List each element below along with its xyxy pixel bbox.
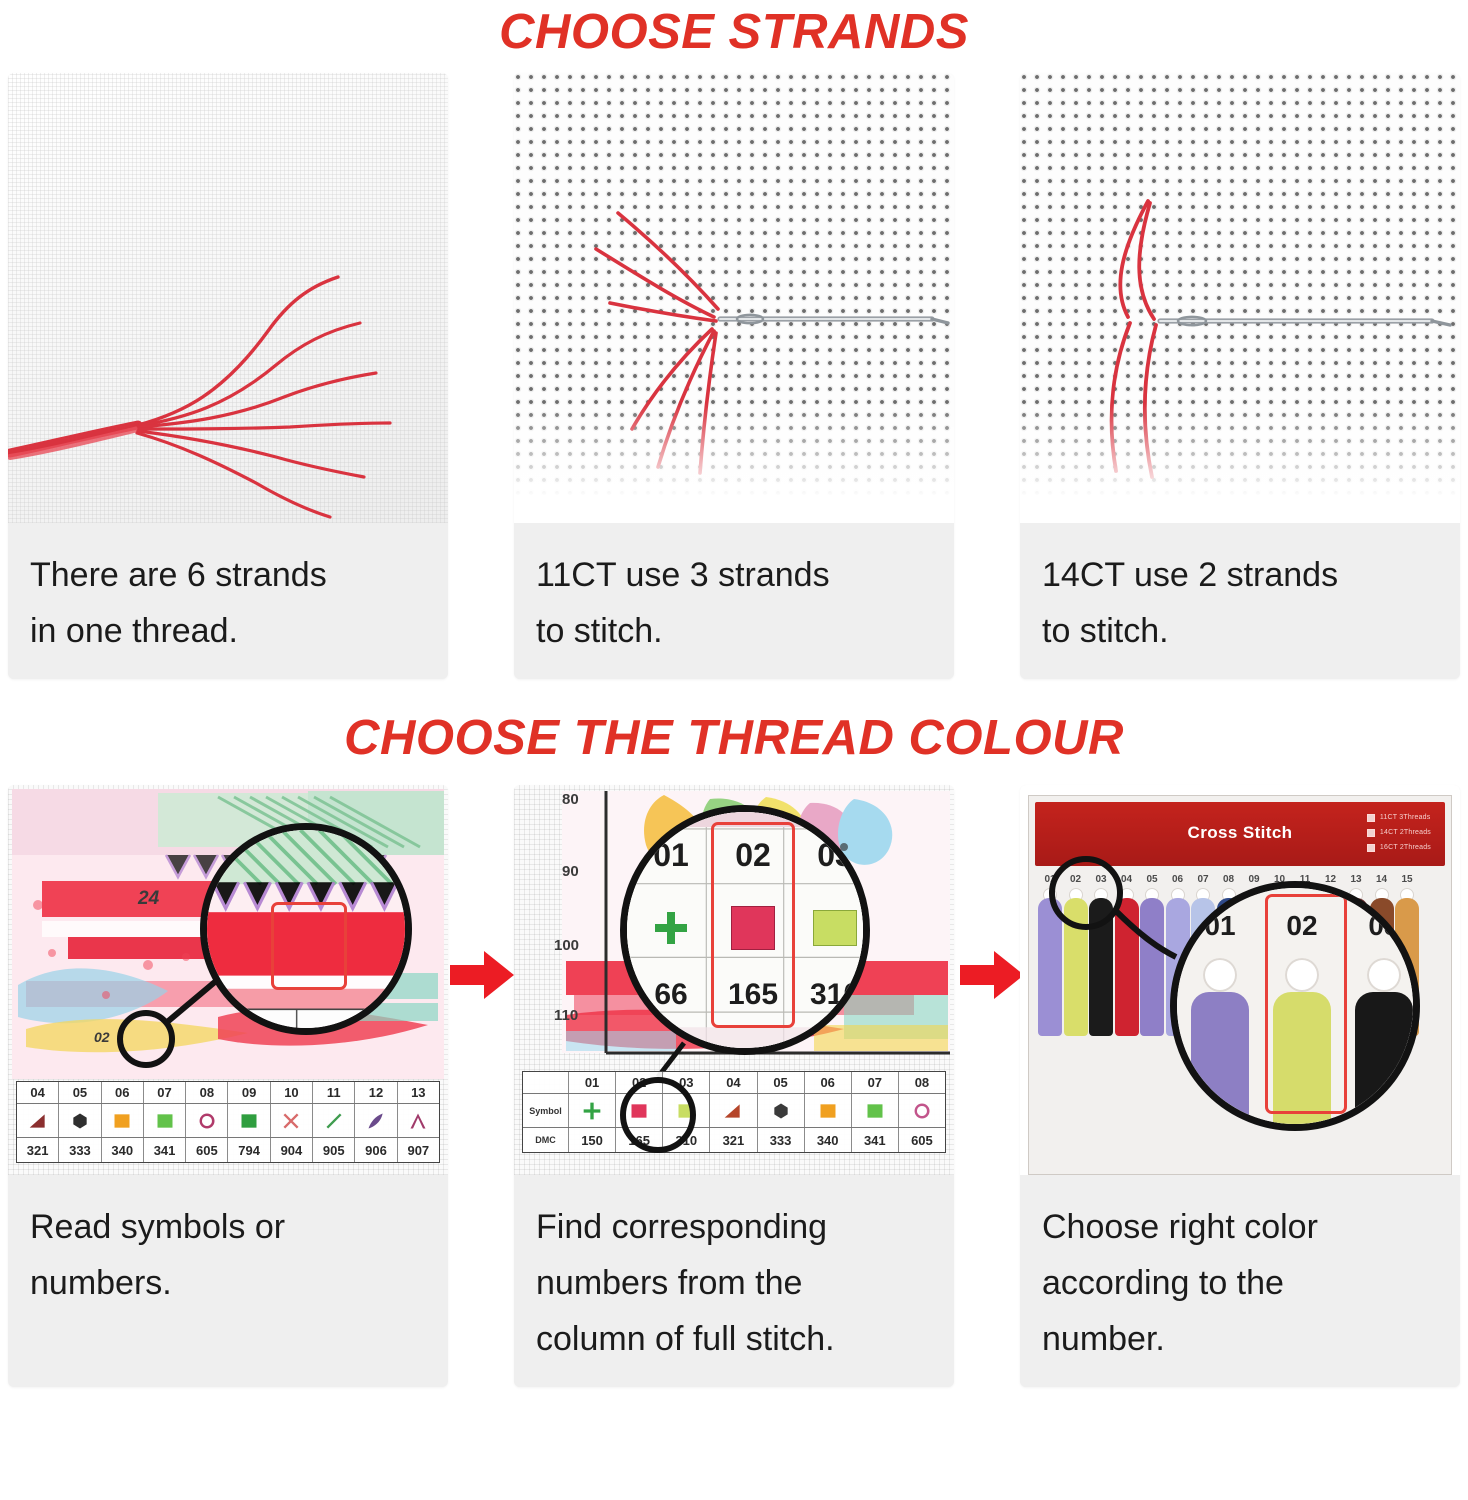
legend-symbol-cell — [398, 1104, 439, 1137]
photo-six-strands-on-linen — [8, 73, 448, 523]
orange-square-symbol — [805, 1094, 851, 1127]
legend-dmc-number: 150 — [569, 1128, 616, 1152]
right-arrow-icon — [448, 940, 518, 1010]
caption-14ct: 14CT use 2 strands to stitch. — [1020, 523, 1460, 679]
legend-header-row: 0102030405060708 — [523, 1072, 945, 1094]
orange-square-symbol — [102, 1104, 143, 1137]
orange-square-icon — [818, 1101, 838, 1121]
hexagon-dot-icon — [771, 1101, 791, 1121]
hexagon-dot-symbol — [758, 1094, 804, 1127]
magnifier-connector — [1020, 785, 1460, 1175]
legend-dmc-number: 321 — [17, 1138, 59, 1162]
green-square-symbol — [144, 1104, 185, 1137]
dark-green-square-symbol — [228, 1104, 269, 1137]
dark-green-square-icon — [239, 1111, 259, 1131]
legend-symbol-row: Symbol — [523, 1094, 945, 1128]
legend-symbol-cell — [758, 1094, 805, 1127]
legend-highlight-circle — [620, 1077, 696, 1153]
legend-dmc-number: 333 — [59, 1138, 101, 1162]
filled-triangle-icon — [28, 1111, 48, 1131]
legend-column-header: 11 — [313, 1082, 355, 1103]
legend-symbol-cell — [17, 1104, 59, 1137]
photo-two-strands-needle-aida — [1020, 73, 1460, 523]
legend-column-header: 08 — [899, 1072, 945, 1093]
caption-line: numbers. — [30, 1255, 426, 1311]
six-strand-thread-illustration — [8, 73, 448, 523]
legend-column-header: 05 — [758, 1072, 805, 1093]
arrow-step-1-to-2 — [448, 940, 518, 1010]
needle-shape — [720, 315, 948, 323]
panel-read-symbols: 24 — [8, 785, 448, 1387]
legend-symbol-cell — [228, 1104, 270, 1137]
legend-dmc-number: 340 — [805, 1128, 852, 1152]
fabric-fade — [1020, 403, 1460, 523]
legend-dmc-number: 333 — [758, 1128, 805, 1152]
legend-column-header: 08 — [186, 1082, 228, 1103]
legend-symbol-cell — [186, 1104, 228, 1137]
legend-dmc-number: 904 — [271, 1138, 313, 1162]
page-title-choose-thread-colour: CHOOSE THE THREAD COLOUR — [0, 709, 1468, 767]
legend-symbol-cell — [313, 1104, 355, 1137]
legend-dmc-number: 905 — [313, 1138, 355, 1162]
caption-line: to stitch. — [536, 603, 932, 659]
page-title-choose-strands: CHOOSE STRANDS — [0, 0, 1468, 61]
pattern-column-marker: 02 — [94, 1029, 110, 1045]
legend-dmc-number: 907 — [398, 1138, 439, 1162]
green-square-symbol — [852, 1094, 898, 1127]
caption-line: in one thread. — [30, 603, 426, 659]
caption-line: numbers from the — [536, 1255, 932, 1311]
hexagon-dot-icon — [70, 1111, 90, 1131]
caption-line: column of full stitch. — [536, 1311, 932, 1367]
caption-line: to stitch. — [1042, 603, 1438, 659]
caption-choose-colour: Choose right color according to the numb… — [1020, 1175, 1460, 1387]
strands-panel-row: There are 6 strands in one thread. — [0, 73, 1468, 679]
x-cross-icon — [281, 1111, 301, 1131]
open-circle-symbol — [899, 1094, 945, 1127]
legend-column-header: 06 — [102, 1082, 144, 1103]
open-circle-icon — [912, 1101, 932, 1121]
legend-corner-label — [523, 1072, 569, 1093]
right-arrow-icon — [958, 940, 1028, 1010]
caption-line: 11CT use 3 strands — [536, 547, 932, 603]
arrow-step-2-to-3 — [958, 940, 1028, 1010]
legend-dmc-number: 321 — [710, 1128, 757, 1152]
legend-symbol-cell — [569, 1094, 616, 1127]
legend-dmc-number: 906 — [355, 1138, 397, 1162]
leaf-icon — [366, 1111, 386, 1131]
legend-column-header: 04 — [710, 1072, 757, 1093]
legend-dmc-number: 794 — [228, 1138, 270, 1162]
legend-header-row: 04050607080910111213 — [17, 1082, 439, 1104]
filled-triangle-symbol — [710, 1094, 756, 1127]
legend-symbol-cell — [899, 1094, 945, 1127]
green-square-icon — [865, 1101, 885, 1121]
legend-column-header: 07 — [852, 1072, 899, 1093]
photo-printed-pattern: 24 — [8, 785, 448, 1175]
legend-symbol-cell — [271, 1104, 313, 1137]
panel-find-numbers: 80 90 100 110 — [514, 785, 954, 1387]
chevron-icon — [408, 1111, 428, 1131]
panel-11ct-three-strands: 11CT use 3 strands to stitch. — [514, 73, 954, 679]
legend-number-row: 321333340341605794904905906907 — [17, 1138, 439, 1162]
chevron-symbol — [398, 1104, 439, 1137]
legend-dmc-number: 605 — [186, 1138, 228, 1162]
caption-line: according to the — [1042, 1255, 1438, 1311]
caption-find-numbers: Find corresponding numbers from the colu… — [514, 1175, 954, 1387]
legend-column-header: 04 — [17, 1082, 59, 1103]
full-stitch-legend-table: 0102030405060708 Symbol DMC1501653103213… — [522, 1071, 946, 1153]
needle-shape — [1160, 317, 1450, 325]
legend-column-header: 13 — [398, 1082, 439, 1103]
legend-symbol-cell — [355, 1104, 397, 1137]
symbol-legend-table: 04050607080910111213 3213333403416057949… — [16, 1081, 440, 1163]
green-square-icon — [155, 1111, 175, 1131]
caption-11ct: 11CT use 3 strands to stitch. — [514, 523, 954, 679]
legend-dmc-number: 340 — [102, 1138, 144, 1162]
diagonal-slash-icon — [324, 1111, 344, 1131]
caption-six-strands: There are 6 strands in one thread. — [8, 523, 448, 679]
legend-number-row: DMC150165310321333340341605 — [523, 1128, 945, 1152]
legend-symbol-cell — [102, 1104, 144, 1137]
legend-column-header: 07 — [144, 1082, 186, 1103]
legend-column-header: 05 — [59, 1082, 101, 1103]
diagonal-slash-symbol — [313, 1104, 354, 1137]
x-cross-symbol — [271, 1104, 312, 1137]
green-plus-symbol — [569, 1094, 615, 1127]
legend-symbol-cell — [805, 1094, 852, 1127]
caption-line: number. — [1042, 1311, 1438, 1367]
legend-symbol-cell — [710, 1094, 757, 1127]
caption-read-symbols: Read symbols or numbers. — [8, 1175, 448, 1331]
open-circle-icon — [197, 1111, 217, 1131]
panel-14ct-two-strands: 14CT use 2 strands to stitch. — [1020, 73, 1460, 679]
legend-symbol-cell — [852, 1094, 899, 1127]
legend-dmc-number: 341 — [144, 1138, 186, 1162]
legend-column-header: 06 — [805, 1072, 852, 1093]
fabric-fade — [514, 403, 954, 523]
legend-row-label-dmc: DMC — [523, 1128, 569, 1152]
legend-column-header: 01 — [569, 1072, 616, 1093]
photo-chart-with-legend: 80 90 100 110 — [514, 785, 954, 1175]
legend-column-header: 09 — [228, 1082, 270, 1103]
photo-floss-organiser: Cross Stitch 11CT 3Threads14CT 2Threads1… — [1020, 785, 1460, 1175]
thread-colour-panel-row: 24 — [0, 785, 1468, 1387]
caption-line: Read symbols or — [30, 1199, 426, 1255]
legend-dmc-number: 341 — [852, 1128, 899, 1152]
legend-column-header: 10 — [271, 1082, 313, 1103]
legend-symbol-row — [17, 1104, 439, 1138]
open-circle-symbol — [186, 1104, 227, 1137]
legend-symbol-cell — [144, 1104, 186, 1137]
caption-line: 14CT use 2 strands — [1042, 547, 1438, 603]
hexagon-dot-symbol — [59, 1104, 100, 1137]
panel-choose-colour: Cross Stitch 11CT 3Threads14CT 2Threads1… — [1020, 785, 1460, 1387]
leaf-symbol — [355, 1104, 396, 1137]
green-plus-icon — [582, 1101, 602, 1121]
caption-line: Find corresponding — [536, 1199, 932, 1255]
orange-square-icon — [112, 1111, 132, 1131]
infographic-page: CHOOSE STRANDS — [0, 0, 1468, 1500]
caption-line: Choose right color — [1042, 1199, 1438, 1255]
legend-row-label-symbol: Symbol — [523, 1094, 569, 1127]
photo-three-strands-needle-aida — [514, 73, 954, 523]
filled-triangle-symbol — [17, 1104, 58, 1137]
caption-line: There are 6 strands — [30, 547, 426, 603]
legend-dmc-number: 605 — [899, 1128, 945, 1152]
panel-six-strands: There are 6 strands in one thread. — [8, 73, 448, 679]
filled-triangle-icon — [723, 1101, 743, 1121]
legend-symbol-cell — [59, 1104, 101, 1137]
legend-column-header: 12 — [355, 1082, 397, 1103]
